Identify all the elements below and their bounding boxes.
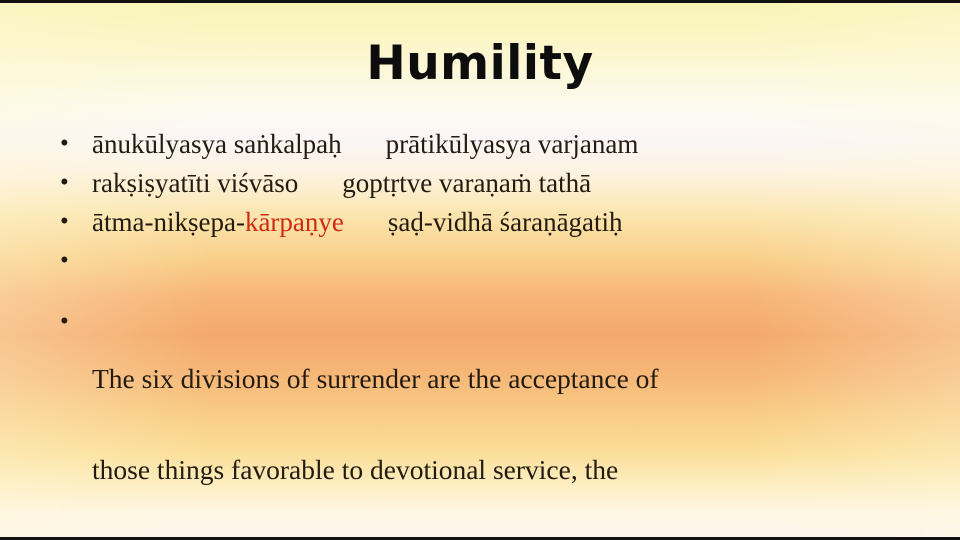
empty-list-item: • [52,243,932,279]
list-item: • ānukūlyasya saṅkalpaḥprātikūlyasya var… [52,126,932,162]
verse-line-2: rakṣiṣyatīti viśvāsogoptṛtve varaṇaṁ tat… [92,165,932,201]
slide-content: Humility • ānukūlyasya saṅkalpaḥprātikūl… [0,0,960,540]
verse-1-segment-b: prātikūlyasya varjanam [386,129,639,159]
bullet-marker: • [52,165,92,201]
verse-1-segment-a: ānukūlyasya saṅkalpaḥ [92,129,342,159]
translation-paragraph: The six divisions of surrender are the a… [92,304,892,540]
presentation-slide: Humility • ānukūlyasya saṅkalpaḥprātikūl… [0,0,960,540]
empty-bullet-body [92,243,932,273]
verse-2-segment-a: rakṣiṣyatīti viśvāso [92,168,298,198]
verse-3-segment-c: ṣaḍ-vidhā śaraṇāgatiḥ [388,207,623,237]
verse-2-segment-b: goptṛtve varaṇaṁ tathā [342,168,591,198]
bullet-marker: • [52,204,92,240]
list-spacer [52,282,932,304]
list-item: • rakṣiṣyatīti viśvāsogoptṛtve varaṇaṁ t… [52,165,932,201]
verse-line-3: ātma-nikṣepa-kārpaṇyeṣaḍ-vidhā śaraṇāgat… [92,204,932,240]
verse-3-highlight-karpanye: kārpaṇye [245,207,344,237]
list-item: • The six divisions of surrender are the… [52,304,932,540]
translation-line-1: The six divisions of surrender are the a… [92,364,892,394]
list-item: • ātma-nikṣepa-kārpaṇyeṣaḍ-vidhā śaraṇāg… [52,204,932,240]
bullet-marker: • [52,304,92,340]
bullet-marker: • [52,243,92,279]
translation-line-2: those things favorable to devotional ser… [92,455,892,485]
slide-title: Humility [0,36,960,91]
verse-line-1: ānukūlyasya saṅkalpaḥprātikūlyasya varja… [92,126,932,162]
bullet-marker: • [52,126,92,162]
bullet-list: • ānukūlyasya saṅkalpaḥprātikūlyasya var… [52,126,932,540]
verse-3-segment-a: ātma-nikṣepa- [92,207,245,237]
